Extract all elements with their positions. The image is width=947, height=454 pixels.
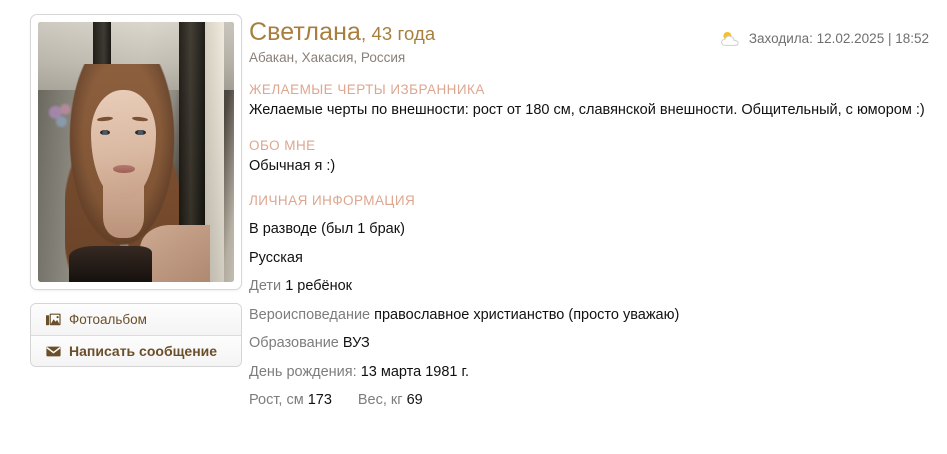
profile-photo[interactable]	[38, 22, 234, 282]
section-about-me-title: ОБО МНЕ	[249, 138, 937, 153]
photo-shading	[38, 22, 234, 282]
profile-left-column: Фотоальбом Написать сообщение	[30, 14, 242, 367]
profile-name-line: Светлана, 43 года	[249, 18, 435, 46]
info-row-label: Вероисповедание	[249, 307, 374, 323]
section-wanted-traits-title: ЖЕЛАЕМЫЕ ЧЕРТЫ ИЗБРАННИКА	[249, 82, 937, 97]
weight-label: Вес, кг	[358, 392, 407, 408]
info-row-value: ВУЗ	[343, 335, 370, 351]
profile-name: Светлана	[249, 18, 361, 46]
profile-actions: Фотоальбом Написать сообщение	[30, 303, 242, 367]
last-seen-text: Заходила: 12.02.2025 | 18:52	[749, 31, 929, 46]
sun-behind-cloud-icon	[720, 30, 742, 47]
weight-value: 69	[407, 392, 423, 408]
last-seen-status: Заходила: 12.02.2025 | 18:52	[720, 30, 929, 47]
info-row-measurements: Рост, см 173Вес, кг 69	[249, 386, 937, 415]
envelope-icon	[46, 346, 61, 357]
info-row: В разводе (был 1 брак)	[249, 215, 937, 244]
info-row-label: Образование	[249, 335, 343, 351]
info-row-value: 13 марта 1981 г.	[361, 364, 469, 380]
profile-age: , 43 года	[361, 23, 435, 44]
write-message-button[interactable]: Написать сообщение	[31, 335, 241, 366]
section-wanted-traits: ЖЕЛАЕМЫЕ ЧЕРТЫ ИЗБРАННИКА Желаемые черты…	[249, 82, 937, 121]
section-personal-info: ЛИЧНАЯ ИНФОРМАЦИЯ В разводе (был 1 брак)…	[249, 193, 937, 415]
info-row: Дети 1 ребёнок	[249, 272, 937, 301]
profile-location: Абакан, Хакасия, Россия	[249, 50, 435, 65]
info-row: Русская	[249, 244, 937, 273]
profile-right-column: Светлана, 43 года Абакан, Хакасия, Росси…	[249, 18, 937, 415]
info-row: День рождения: 13 марта 1981 г.	[249, 358, 937, 387]
info-row: Вероисповедание православное христианств…	[249, 301, 937, 330]
section-wanted-traits-text: Желаемые черты по внешности: рост от 180…	[249, 100, 925, 121]
info-row-label: День рождения:	[249, 364, 361, 380]
section-about-me: ОБО МНЕ Обычная я :)	[249, 138, 937, 177]
info-row-value: православное христианство (просто уважаю…	[374, 307, 679, 323]
personal-info-list: В разводе (был 1 брак)РусскаяДети 1 ребё…	[249, 215, 937, 386]
profile-page: Фотоальбом Написать сообщение Светлана, …	[0, 0, 947, 454]
info-row-value: Русская	[249, 250, 303, 266]
photo-album-label: Фотоальбом	[69, 312, 147, 327]
profile-identity: Светлана, 43 года Абакан, Хакасия, Росси…	[249, 18, 435, 65]
info-row-value: 1 ребёнок	[285, 278, 352, 294]
profile-photo-frame[interactable]	[30, 14, 242, 290]
section-about-me-text: Обычная я :)	[249, 156, 925, 177]
height-value: 173	[308, 392, 332, 408]
info-row-value: В разводе (был 1 брак)	[249, 221, 405, 237]
photo-album-icon	[46, 313, 61, 326]
info-row-label: Дети	[249, 278, 285, 294]
profile-identity-row: Светлана, 43 года Абакан, Хакасия, Росси…	[249, 18, 937, 65]
photo-album-button[interactable]: Фотоальбом	[31, 304, 241, 335]
height-label: Рост, см	[249, 392, 308, 408]
write-message-label: Написать сообщение	[69, 343, 217, 359]
section-personal-info-title: ЛИЧНАЯ ИНФОРМАЦИЯ	[249, 193, 937, 208]
info-row: Образование ВУЗ	[249, 329, 937, 358]
